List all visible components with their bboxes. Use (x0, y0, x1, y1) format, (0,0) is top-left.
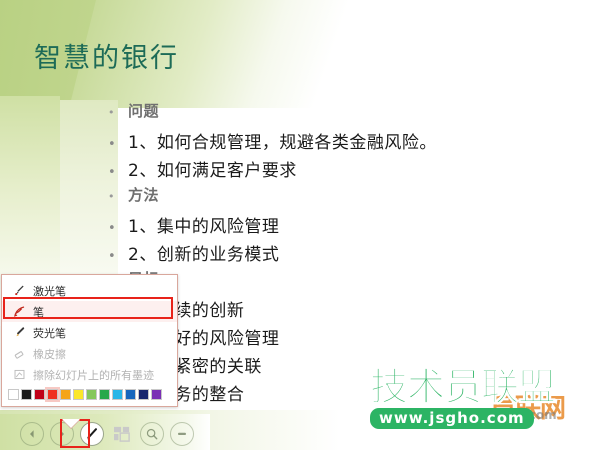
context-menu-pointer (62, 419, 80, 428)
bullet-item: •2、如何满足客户要求 (108, 156, 528, 184)
bullet-text: 2、如何满足客户要求 (128, 156, 297, 181)
more-options-button[interactable] (170, 422, 194, 446)
menu-item-highlighter[interactable]: 荧光笔 (2, 322, 177, 343)
bullet-text: 1、集中的风险管理 (128, 212, 279, 237)
presentation-slide: 智慧的银行 •问题•1、如何合规管理，规避各类金融风险。•2、如何满足客户要求•… (0, 0, 600, 450)
bullet-heading: •方法 (108, 184, 528, 212)
bullet-marker-icon: • (108, 249, 128, 264)
menu-item-laser-pointer[interactable]: 激光笔 (2, 280, 177, 301)
watermark-url: www.jsgho.com (370, 408, 534, 429)
bullet-marker-icon: • (108, 165, 128, 180)
bullet-text: 方法 (128, 184, 159, 205)
previous-slide-button[interactable] (20, 422, 44, 446)
watermark-brand: 技术员联盟 (370, 368, 555, 406)
bullet-marker-icon: • (108, 137, 128, 152)
ink-color-black[interactable] (21, 389, 32, 400)
menu-item-label: 激光笔 (29, 283, 66, 299)
eraser-icon (9, 347, 29, 360)
ink-color-yellow[interactable] (73, 389, 84, 400)
menu-item-pen[interactable]: 笔 (2, 301, 177, 322)
pen-tool-context-menu[interactable]: 激光笔笔荧光笔橡皮擦擦除幻灯片上的所有墨迹 (1, 274, 178, 407)
bullet-item: •1、如何合规管理，规避各类金融风险。 (108, 128, 528, 156)
menu-item-erase-all-ink: 擦除幻灯片上的所有墨迹 (2, 364, 177, 385)
bullet-item: •2、创新的业务模式 (108, 240, 528, 268)
menu-item-label: 笔 (29, 304, 44, 320)
bullet-marker-icon: • (108, 221, 128, 236)
zoom-button[interactable] (140, 422, 164, 446)
slide-title: 智慧的银行 (34, 36, 179, 75)
bullet-text: 问题 (128, 100, 159, 121)
watermark: 技术员联盟 www.jsgho.com (370, 368, 555, 429)
erase-all-ink-icon (9, 368, 29, 381)
menu-item-label: 橡皮擦 (29, 346, 66, 362)
laser-pointer-icon (9, 284, 29, 297)
pen-icon (9, 305, 29, 318)
highlighter-icon (9, 326, 29, 339)
ink-color-blue[interactable] (125, 389, 136, 400)
ink-color-dark-red[interactable] (34, 389, 45, 400)
bullet-marker-icon: • (108, 106, 128, 119)
pen-tool-button[interactable] (80, 422, 104, 446)
bullet-marker-icon: • (108, 190, 128, 203)
ink-color-white[interactable] (8, 389, 19, 400)
ink-color-palette[interactable] (2, 385, 177, 402)
menu-item-label: 荧光笔 (29, 325, 66, 341)
ink-color-green[interactable] (99, 389, 110, 400)
bullet-text: 1、如何合规管理，规避各类金融风险。 (128, 128, 437, 153)
presenter-toolbar[interactable] (20, 422, 194, 446)
menu-item-eraser: 橡皮擦 (2, 343, 177, 364)
ink-color-dark-blue[interactable] (138, 389, 149, 400)
bullet-item: •1、集中的风险管理 (108, 212, 528, 240)
ink-color-purple[interactable] (151, 389, 162, 400)
ink-color-red[interactable] (47, 389, 58, 400)
all-slides-button[interactable] (110, 422, 134, 446)
ink-color-light-green[interactable] (86, 389, 97, 400)
ink-color-light-blue[interactable] (112, 389, 123, 400)
bullet-heading: •问题 (108, 100, 528, 128)
bullet-text: 2、创新的业务模式 (128, 240, 279, 265)
ink-color-orange[interactable] (60, 389, 71, 400)
menu-item-label: 擦除幻灯片上的所有墨迹 (29, 367, 154, 383)
